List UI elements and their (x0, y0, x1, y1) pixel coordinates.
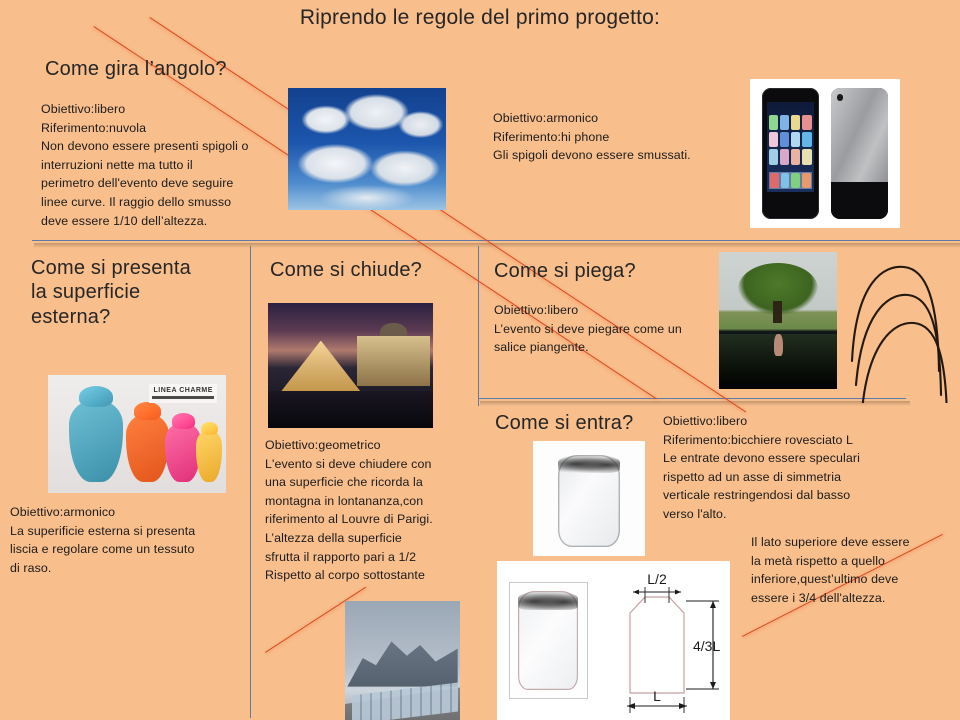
diagram-label-base: L (653, 688, 661, 704)
heading-come-si-chiude: Come si chiude? (270, 258, 480, 282)
mountain-building-photo (345, 601, 460, 720)
body-come-si-chiude: Obiettivo:geometrico L'evento si deve ch… (265, 436, 470, 585)
body-hi-phone: Obiettivo:armonico Riferimento:hi phone … (493, 109, 773, 165)
divider-horizontal-mid (478, 398, 906, 399)
body-superficie-esterna: Obiettivo:armonico La superificie estern… (10, 503, 255, 577)
heading-come-gira-langolo: Come gira l’angolo? (45, 57, 345, 81)
diagram-label-height: 4/3L (693, 638, 720, 654)
satin-pouches-photo: LINEA CHARME (48, 375, 226, 493)
divider-vertical-left (250, 246, 251, 718)
body-proportions-note: Il lato superiore deve essere la metà ri… (751, 533, 960, 607)
page-title: Riprendo le regole del primo progetto: (0, 6, 960, 30)
heading-come-si-presenta-la-superficie-esterna: Come si presenta la superficie esterna? (31, 256, 191, 329)
phone-back (831, 88, 888, 219)
heading-come-si-entra: Come si entra? (495, 411, 675, 435)
body-come-si-entra: Obiettivo:libero Riferimento:bicchiere r… (663, 412, 928, 524)
glass-proportions-diagram: L/2 4/3L L (497, 561, 730, 720)
upturned-glass-photo (533, 441, 645, 556)
weeping-willow-photo (719, 252, 837, 389)
cloud-sky-photo (288, 88, 446, 210)
smartphone-front-back-photo (750, 79, 900, 228)
heading-come-si-piega: Come si piega? (494, 259, 714, 283)
body-come-gira-langolo: Obiettivo:libero Riferimento:nuvola Non … (41, 100, 296, 230)
slide-canvas: Riprendo le regole del primo progetto: C… (0, 0, 960, 720)
divider-horizontal-top (32, 240, 960, 241)
diagram-label-top: L/2 (647, 571, 667, 587)
nested-arches-sketch (850, 243, 960, 403)
phone-front (762, 88, 819, 219)
body-come-si-piega: Obiettivo:libero L’evento si deve piegar… (494, 301, 719, 357)
louvre-pyramid-photo (268, 303, 433, 428)
